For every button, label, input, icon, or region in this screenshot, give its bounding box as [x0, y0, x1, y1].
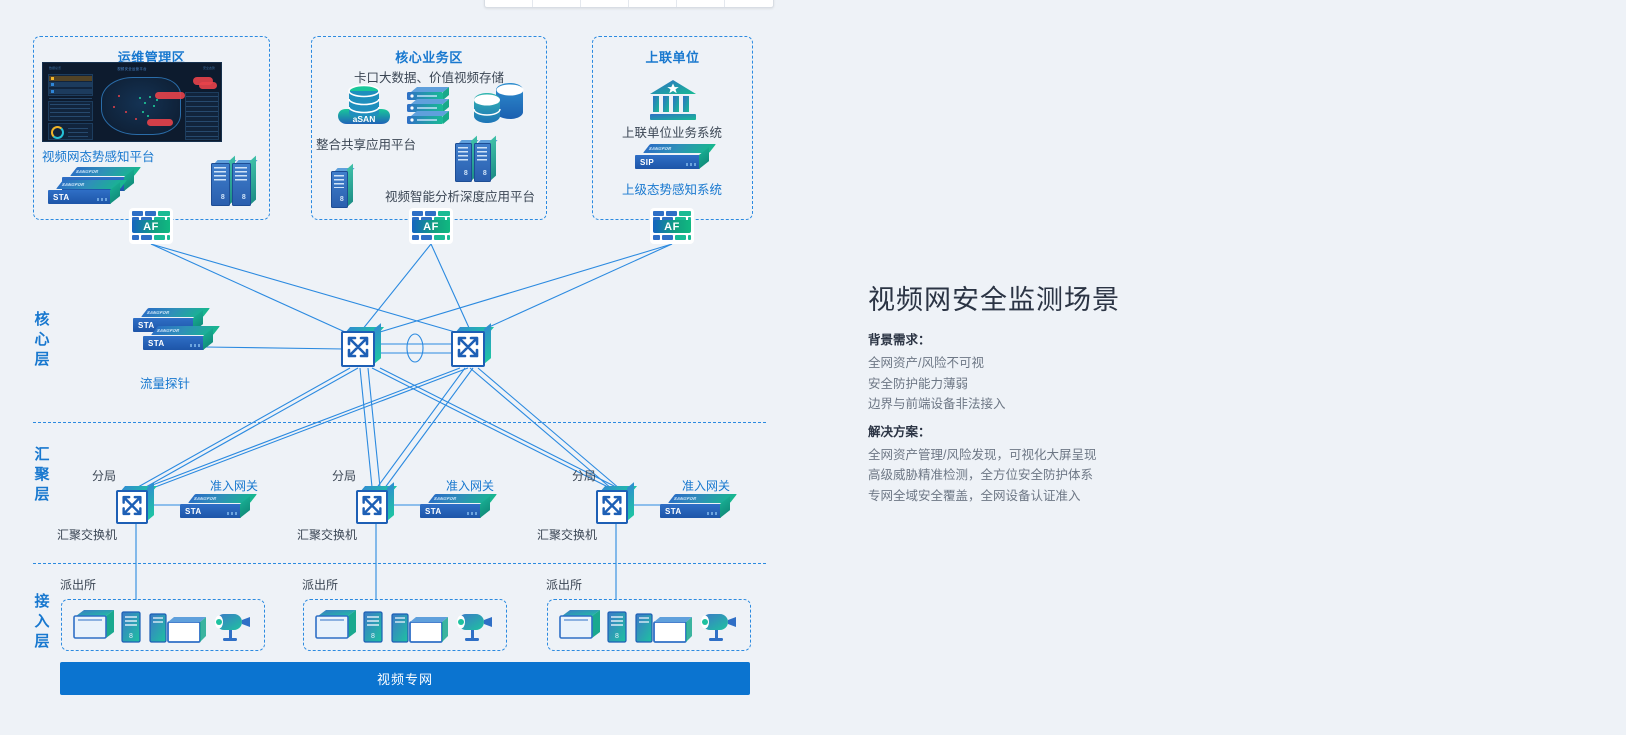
switch-arrows-icon	[359, 493, 385, 518]
switch-arrows-icon	[599, 493, 625, 518]
branch-label-2: 分局	[332, 467, 356, 484]
network-bar-label: 视频专网	[377, 669, 433, 688]
access-gateway-2: SANGFOR STA	[420, 494, 490, 518]
solution-item: 全网资产管理/风险发现，可视化大屏呈现	[868, 445, 1288, 466]
server-icon: 8	[608, 612, 626, 642]
appliance-tag: STA	[185, 507, 202, 516]
firewall-label: AF	[653, 220, 691, 233]
appliance-tag: STA	[665, 507, 682, 516]
gateway-label-2: 准入网关	[446, 477, 494, 494]
network-diagram: 运维管理区 视频安全运营平台 数据总览 安全态势	[0, 0, 800, 735]
core-switch-right	[451, 327, 491, 367]
camera-icon	[701, 614, 736, 641]
server-label: 8	[242, 194, 246, 201]
aggregation-switch-1	[116, 486, 154, 524]
server-label: 8	[221, 194, 225, 201]
background-item: 边界与前端设备非法接入	[868, 394, 1288, 415]
svg-text:8: 8	[615, 633, 619, 640]
background-item: 安全防护能力薄弱	[868, 374, 1288, 395]
branch-label-3: 分局	[572, 467, 596, 484]
police-station-3: 8	[547, 599, 751, 651]
police-station-2: 8	[303, 599, 507, 651]
appliance-brand: SANGFOR	[75, 169, 99, 174]
institution-icon	[648, 78, 698, 122]
probe-appliance-2: SANGFOR STA	[48, 180, 120, 204]
ops-platform-label: 视频网态势感知平台	[42, 146, 155, 165]
firewall-core: AF	[409, 208, 453, 244]
solution-item: 高级威胁精准检测，全方位安全防护体系	[868, 465, 1288, 486]
desktop-pc-icon	[392, 614, 448, 642]
station-label-2: 派出所	[302, 576, 338, 593]
appliance-tag: STA	[425, 507, 442, 516]
divider-core-aggregation	[33, 422, 766, 423]
server-label: 8	[464, 170, 468, 177]
uplink-situation-label: 上级态势感知系统	[622, 179, 722, 198]
branch-label-1: 分局	[92, 467, 116, 484]
appliance-brand: SANGFOR	[146, 310, 170, 315]
ops-server-rack-b: 8	[232, 160, 256, 206]
appliance-brand: SANGFOR	[61, 182, 85, 187]
core-server-tower: 8	[331, 168, 353, 208]
firewall-label: AF	[412, 220, 450, 233]
appliance-tag: STA	[148, 339, 165, 348]
camera-icon	[457, 614, 492, 641]
traffic-probe-label: 流量探针	[140, 373, 190, 392]
core-business-zone-title: 核心业务区	[312, 47, 546, 66]
switch-arrows-icon	[454, 334, 482, 360]
page-title: 视频网安全监测场景	[868, 278, 1288, 317]
appliance-brand: SANGFOR	[156, 328, 180, 333]
desktop-pc-icon	[636, 614, 692, 642]
nvr-icon	[316, 610, 356, 638]
traffic-probe-2: SANGFOR STA	[143, 326, 213, 350]
situation-dashboard-image: 视频安全运营平台 数据总览 安全态势	[42, 62, 222, 142]
switch-arrows-icon	[344, 334, 372, 360]
svg-text:8: 8	[371, 633, 375, 640]
nvr-icon	[74, 610, 114, 638]
firewall-uplink: AF	[650, 208, 694, 244]
layer-label-aggregation: 汇聚层	[30, 445, 54, 505]
asan-label: aSAN	[353, 114, 376, 124]
gateway-label-1: 准入网关	[210, 477, 258, 494]
firewall-ops: AF	[129, 208, 173, 244]
scenario-panel: 视频网安全监测场景 背景需求： 全网资产/风险不可视 安全防护能力薄弱 边界与前…	[868, 278, 1288, 506]
uplink-business-label: 上联单位业务系统	[622, 122, 722, 141]
appliance-brand: SANGFOR	[193, 496, 217, 501]
server-label: 8	[340, 196, 344, 203]
aggregation-switch-label-1: 汇聚交换机	[57, 526, 117, 543]
access-gateway-3: SANGFOR STA	[660, 494, 730, 518]
asan-storage-icon: aSAN	[336, 83, 392, 127]
appliance-brand: SANGFOR	[433, 496, 457, 501]
background-heading: 背景需求：	[868, 329, 1288, 348]
divider-aggregation-access	[33, 563, 766, 564]
layer-label-access: 接入层	[30, 592, 54, 652]
nvr-icon	[560, 610, 600, 638]
layer-label-core: 核心层	[30, 310, 54, 370]
server-label: 8	[483, 170, 487, 177]
database-icon	[472, 80, 524, 126]
core-switch-left	[341, 327, 381, 367]
access-gateway-1: SANGFOR STA	[180, 494, 250, 518]
gateway-label-3: 准入网关	[682, 477, 730, 494]
svg-text:8: 8	[129, 633, 133, 640]
dashboard-corner-right: 安全态势	[203, 66, 215, 70]
dashboard-corner-left: 数据总览	[49, 66, 61, 70]
integration-platform-label: 整合共享应用平台	[316, 134, 416, 153]
desktop-pc-icon	[150, 614, 206, 642]
server-icon: 8	[122, 612, 140, 642]
background-item: 全网资产/风险不可视	[868, 353, 1288, 374]
core-server-pair-b: 8	[474, 140, 496, 182]
sip-appliance: SANGFOR SIP	[635, 144, 709, 169]
switch-arrows-icon	[119, 493, 145, 518]
uplink-zone-title: 上联单位	[593, 47, 752, 66]
appliance-brand: SANGFOR	[673, 496, 697, 501]
firewall-label: AF	[132, 220, 170, 233]
server-icon: 8	[364, 612, 382, 642]
appliance-brand: SANGFOR	[648, 146, 672, 151]
station-label-3: 派出所	[546, 576, 582, 593]
aggregation-switch-2	[356, 486, 394, 524]
appliance-tag: STA	[53, 193, 70, 202]
station-label-1: 派出所	[60, 576, 96, 593]
solution-item: 专网全域安全覆盖，全网设备认证准入	[868, 486, 1288, 507]
aggregation-switch-label-3: 汇聚交换机	[537, 526, 597, 543]
video-private-network-bar: 视频专网	[60, 662, 750, 695]
appliance-tag: SIP	[640, 158, 654, 167]
solution-heading: 解决方案：	[868, 421, 1288, 440]
dashboard-title: 视频安全运营平台	[43, 66, 221, 71]
police-station-1: 8	[61, 599, 265, 651]
server-stack-icon	[405, 85, 451, 127]
analysis-platform-label: 视频智能分析深度应用平台	[385, 186, 535, 205]
camera-icon	[215, 614, 250, 641]
aggregation-switch-label-2: 汇聚交换机	[297, 526, 357, 543]
aggregation-switch-3	[596, 486, 634, 524]
